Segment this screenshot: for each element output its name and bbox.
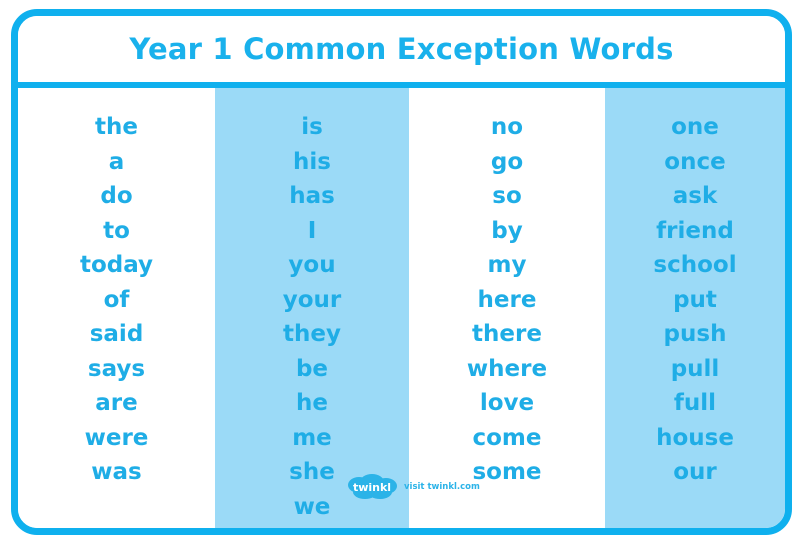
- word-item: friend: [605, 214, 785, 249]
- word-item: has: [215, 179, 409, 214]
- word-column-3: no go so by my here there where love com…: [409, 88, 605, 528]
- title-bar: Year 1 Common Exception Words: [18, 16, 785, 88]
- word-column-2: is his has I you your they be he me she …: [215, 88, 409, 528]
- word-item: I: [215, 214, 409, 249]
- word-item: was: [18, 455, 215, 490]
- svg-text:twinkl: twinkl: [353, 481, 391, 494]
- word-item: is: [215, 110, 409, 145]
- word-item: our: [605, 455, 785, 490]
- word-item: go: [409, 145, 605, 180]
- word-item: full: [605, 386, 785, 421]
- word-item: pull: [605, 352, 785, 387]
- word-item: put: [605, 283, 785, 318]
- word-item: his: [215, 145, 409, 180]
- word-item: ask: [605, 179, 785, 214]
- word-item: no: [409, 110, 605, 145]
- word-item: come: [409, 421, 605, 456]
- word-item: they: [215, 317, 409, 352]
- word-item: you: [215, 248, 409, 283]
- word-item: my: [409, 248, 605, 283]
- page-title: Year 1 Common Exception Words: [129, 32, 673, 66]
- word-item: me: [215, 421, 409, 456]
- word-item: are: [18, 386, 215, 421]
- word-item: be: [215, 352, 409, 387]
- poster-page: Year 1 Common Exception Words the a do t…: [0, 0, 809, 553]
- word-item: once: [605, 145, 785, 180]
- word-item: by: [409, 214, 605, 249]
- word-columns: the a do to today of said says are were …: [18, 88, 785, 528]
- twinkl-cloud-logo-icon: twinkl: [345, 474, 399, 500]
- poster-frame: Year 1 Common Exception Words the a do t…: [11, 9, 792, 535]
- word-item: says: [18, 352, 215, 387]
- twinkl-url-label: visit twinkl.com: [404, 482, 480, 492]
- word-item: where: [409, 352, 605, 387]
- word-item: the: [18, 110, 215, 145]
- word-column-1: the a do to today of said says are were …: [18, 88, 215, 528]
- twinkl-branding: twinkl visit twinkl.com: [345, 474, 480, 500]
- word-item: there: [409, 317, 605, 352]
- word-column-4: one once ask friend school put push pull…: [605, 88, 785, 528]
- word-item: so: [409, 179, 605, 214]
- word-item: school: [605, 248, 785, 283]
- word-item: do: [18, 179, 215, 214]
- word-item: said: [18, 317, 215, 352]
- word-item: were: [18, 421, 215, 456]
- word-item: to: [18, 214, 215, 249]
- word-item: of: [18, 283, 215, 318]
- word-item: he: [215, 386, 409, 421]
- word-item: today: [18, 248, 215, 283]
- word-item: love: [409, 386, 605, 421]
- word-item: a: [18, 145, 215, 180]
- word-item: push: [605, 317, 785, 352]
- word-item: one: [605, 110, 785, 145]
- word-item: your: [215, 283, 409, 318]
- word-item: here: [409, 283, 605, 318]
- word-item: house: [605, 421, 785, 456]
